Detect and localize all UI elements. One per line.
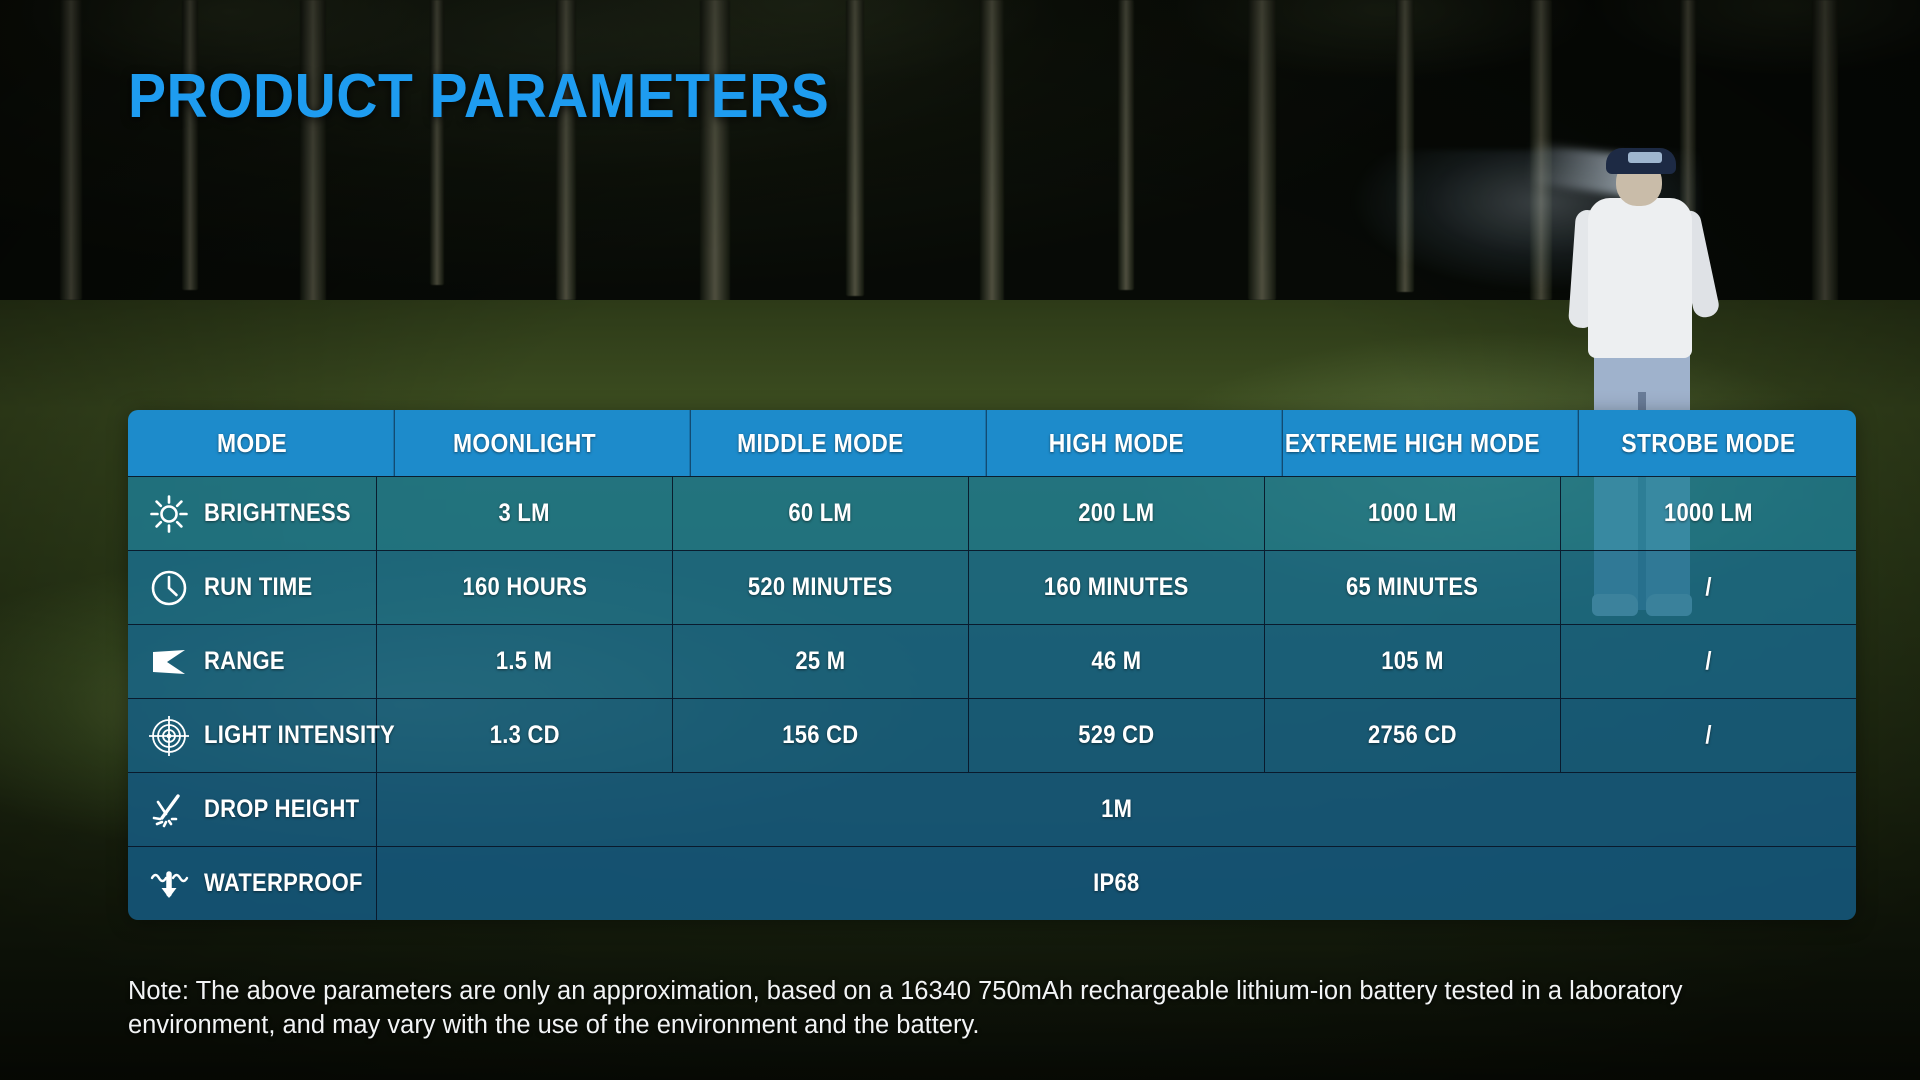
cell-value: 1.3 CD: [489, 721, 559, 750]
row-label-cell: LIGHT INTENSITY: [128, 699, 376, 772]
cell-value: IP68: [1093, 869, 1139, 898]
row-label-cell: WATERPROOF: [128, 847, 376, 920]
cell-value: /: [1705, 647, 1711, 676]
cell-waterproof-value: IP68: [376, 847, 1856, 920]
cell-value: 2756 CD: [1368, 721, 1457, 750]
cell-value: 1000 LM: [1368, 499, 1457, 528]
cell-value: /: [1705, 721, 1711, 750]
cell-runtime-high: 160 MINUTES: [968, 551, 1264, 624]
table-row-run-time: RUN TIME 160 HOURS 520 MINUTES 160 MINUT…: [128, 550, 1856, 624]
cell-value: 105 M: [1381, 647, 1443, 676]
cell-value: 60 LM: [789, 499, 853, 528]
column-header-label: MIDDLE MODE: [737, 428, 904, 459]
table-row-drop-height: DROP HEIGHT 1M: [128, 772, 1856, 846]
cell-value: 160 HOURS: [462, 573, 587, 602]
cell-runtime-extreme: 65 MINUTES: [1264, 551, 1560, 624]
cell-intensity-moonlight: 1.3 CD: [376, 699, 672, 772]
clock-icon: [146, 565, 192, 611]
column-header-strobe-mode: STROBE MODE: [1578, 410, 1838, 476]
row-label: RANGE: [204, 647, 285, 676]
cell-intensity-strobe: /: [1560, 699, 1856, 772]
cell-intensity-high: 529 CD: [968, 699, 1264, 772]
row-label: BRIGHTNESS: [204, 499, 351, 528]
column-header-moonlight: MOONLIGHT: [394, 410, 654, 476]
cell-range-extreme: 105 M: [1264, 625, 1560, 698]
drop-impact-icon: [146, 787, 192, 833]
cell-brightness-moonlight: 3 LM: [376, 477, 672, 550]
table-row-light-intensity: LIGHT INTENSITY 1.3 CD 156 CD 529 CD 275…: [128, 698, 1856, 772]
cell-brightness-high: 200 LM: [968, 477, 1264, 550]
cell-runtime-middle: 520 MINUTES: [672, 551, 968, 624]
column-header-label: HIGH MODE: [1049, 428, 1184, 459]
cell-value: 1.5 M: [496, 647, 552, 676]
column-header-label: MOONLIGHT: [453, 428, 596, 459]
headlamp-icon: [1628, 152, 1662, 163]
column-header-high-mode: HIGH MODE: [986, 410, 1246, 476]
cell-value: 160 MINUTES: [1044, 573, 1189, 602]
table-row-range: RANGE 1.5 M 25 M 46 M 105 M /: [128, 624, 1856, 698]
table-header-row: MODE MOONLIGHT MIDDLE MODE HIGH MODE EXT…: [128, 410, 1856, 476]
target-icon: [146, 713, 192, 759]
column-header-mode: MODE: [143, 410, 361, 476]
row-label: LIGHT INTENSITY: [204, 721, 395, 750]
beam-range-icon: [146, 639, 192, 685]
column-header-label: STROBE MODE: [1621, 428, 1795, 459]
cell-value: 529 CD: [1078, 721, 1154, 750]
note-text: Note: The above parameters are only an a…: [128, 975, 1828, 1042]
cell-range-moonlight: 1.5 M: [376, 625, 672, 698]
cell-value: 156 CD: [782, 721, 858, 750]
cell-brightness-strobe: 1000 LM: [1560, 477, 1856, 550]
waterproof-icon: [146, 861, 192, 907]
column-header-extreme-high-mode: EXTREME HIGH MODE: [1282, 410, 1542, 476]
row-label: DROP HEIGHT: [204, 795, 359, 824]
sun-icon: [146, 491, 192, 537]
row-label-cell: RUN TIME: [128, 551, 376, 624]
column-header-label: MODE: [217, 428, 287, 459]
cell-value: 520 MINUTES: [748, 573, 893, 602]
cell-intensity-extreme: 2756 CD: [1264, 699, 1560, 772]
product-parameters-table: MODE MOONLIGHT MIDDLE MODE HIGH MODE EXT…: [128, 410, 1856, 920]
row-label-cell: RANGE: [128, 625, 376, 698]
cell-range-high: 46 M: [968, 625, 1264, 698]
cell-brightness-extreme: 1000 LM: [1264, 477, 1560, 550]
column-header-middle-mode: MIDDLE MODE: [690, 410, 950, 476]
column-header-label: EXTREME HIGH MODE: [1285, 428, 1540, 459]
table-row-waterproof: WATERPROOF IP68: [128, 846, 1856, 920]
cell-value: 1000 LM: [1664, 499, 1753, 528]
cell-runtime-strobe: /: [1560, 551, 1856, 624]
table-row-brightness: BRIGHTNESS 3 LM 60 LM 200 LM 1000 LM 100…: [128, 476, 1856, 550]
cell-intensity-middle: 156 CD: [672, 699, 968, 772]
cell-range-middle: 25 M: [672, 625, 968, 698]
cell-value: 46 M: [1092, 647, 1142, 676]
cell-value: 200 LM: [1078, 499, 1154, 528]
cell-value: 65 MINUTES: [1346, 573, 1478, 602]
cell-brightness-middle: 60 LM: [672, 477, 968, 550]
row-label-cell: BRIGHTNESS: [128, 477, 376, 550]
cell-value: 1M: [1101, 795, 1132, 824]
cell-drop-height-value: 1M: [376, 773, 1856, 846]
page-title: PRODUCT PARAMETERS: [128, 66, 829, 128]
row-label: WATERPROOF: [204, 869, 363, 898]
cell-range-strobe: /: [1560, 625, 1856, 698]
cell-value: 3 LM: [499, 499, 550, 528]
cell-value: 25 M: [796, 647, 846, 676]
row-label: RUN TIME: [204, 573, 312, 602]
cell-runtime-moonlight: 160 HOURS: [376, 551, 672, 624]
row-label-cell: DROP HEIGHT: [128, 773, 376, 846]
person-torso: [1588, 198, 1692, 358]
cell-value: /: [1705, 573, 1711, 602]
